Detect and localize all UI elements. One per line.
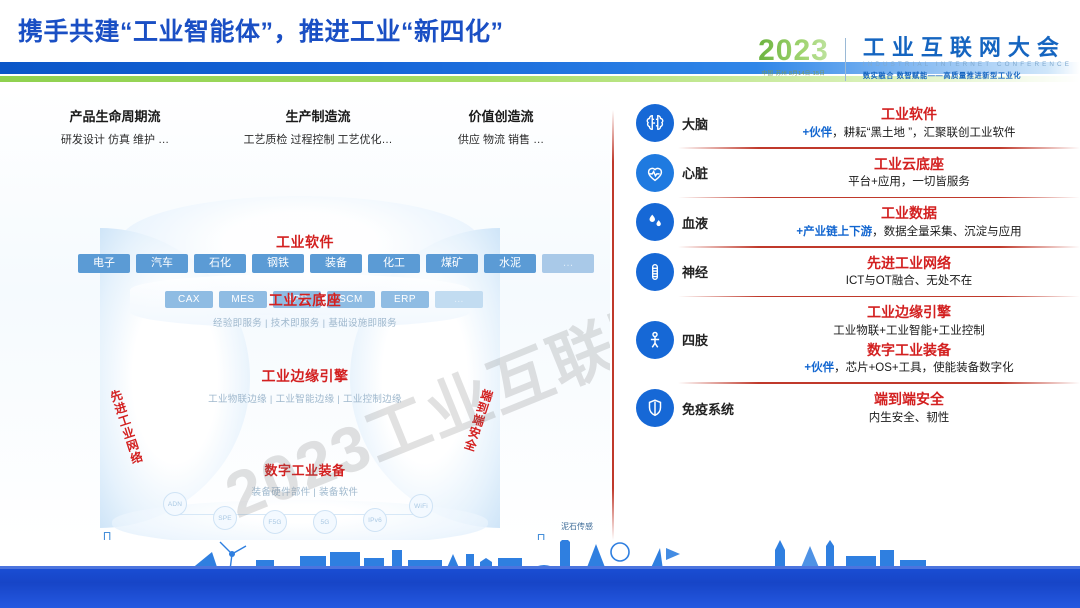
organ-body: 工业边缘引擎 工业物联+工业智能+工业控制 数字工业装备 +伙伴，芯片+OS+工… bbox=[736, 302, 1080, 377]
panel-divider bbox=[612, 110, 614, 540]
organ-name: 心脏 bbox=[682, 163, 736, 182]
organ-separator bbox=[678, 382, 1080, 384]
industry-chip[interactable]: 石化 bbox=[194, 254, 246, 273]
industry-chip[interactable]: 煤矿 bbox=[426, 254, 478, 273]
industry-chip-more[interactable]: … bbox=[542, 254, 594, 273]
industry-chip[interactable]: 水泥 bbox=[484, 254, 536, 273]
organ-row-heart[interactable]: 心脏 工业云底座 平台+应用，一切皆服务 bbox=[636, 154, 1080, 192]
footer-band bbox=[0, 566, 1080, 608]
organ-heading: 工业云底座 bbox=[738, 154, 1080, 174]
logo-year: 2023 bbox=[758, 36, 829, 66]
heart-icon bbox=[636, 154, 674, 192]
flow-column-value: 价值创造流 供应 物流 销售 … bbox=[406, 106, 596, 147]
industry-chip[interactable]: 化工 bbox=[368, 254, 420, 273]
organ-desc-highlight: +伙伴 bbox=[802, 127, 832, 139]
organ-body: 工业云底座 平台+应用，一切皆服务 bbox=[736, 154, 1080, 192]
logo-name-en: INDUSTRIAL INTERNET CONFERENCE bbox=[863, 61, 1072, 68]
organ-row-blood[interactable]: 血液 工业数据 +产业链上下游，数据全量采集、沉淀与应用 bbox=[636, 203, 1080, 241]
organ-desc-highlight: +产业链上下游 bbox=[796, 226, 872, 238]
industry-chip[interactable]: 装备 bbox=[310, 254, 362, 273]
organ-row-nerve[interactable]: 神经 先进工业网络 ICT与OT融合、无处不在 bbox=[636, 253, 1080, 291]
organ-description: +产业链上下游，数据全量采集、沉淀与应用 bbox=[738, 224, 1080, 241]
organ-description: +伙伴，耕耘“黑土地 ”，汇聚联创工业软件 bbox=[738, 125, 1080, 142]
organ-body: 工业软件 +伙伴，耕耘“黑土地 ”，汇聚联创工业软件 bbox=[736, 104, 1080, 142]
device-gas-meter: ▯ 煤气表 bbox=[516, 530, 566, 540]
organ-heading: 工业边缘引擎 bbox=[738, 302, 1080, 322]
organ-heading: 工业数据 bbox=[738, 203, 1080, 223]
organ-desc-rest: ，数据全量采集、沉淀与应用 bbox=[872, 226, 1022, 238]
gas-meter-icon: ▯ bbox=[516, 530, 566, 540]
layer-title: 工业边缘引擎 bbox=[0, 366, 610, 386]
layer-title: 数字工业装备 bbox=[0, 460, 610, 479]
blood-icon bbox=[636, 203, 674, 241]
logo-name-cn: 工业互联网大会 bbox=[863, 36, 1072, 59]
flow-title: 产品生命周期流 bbox=[10, 106, 220, 125]
organ-name: 血液 bbox=[682, 213, 736, 232]
organ-description-secondary: +伙伴，芯片+OS+工具，使能装备数字化 bbox=[738, 360, 1080, 377]
organ-body: 先进工业网络 ICT与OT融合、无处不在 bbox=[736, 253, 1080, 291]
organ-description: ICT与OT融合、无处不在 bbox=[738, 273, 1080, 290]
organ-description: 工业物联+工业智能+工业控制 bbox=[738, 323, 1080, 340]
flow-column-manufacturing: 生产制造流 工艺质检 过程控制 工艺优化… bbox=[208, 106, 428, 147]
organ-desc-rest: ，芯片+OS+工具，使能装备数字化 bbox=[834, 362, 1014, 374]
device-label: 泥石传感 bbox=[552, 522, 602, 531]
device-icon-row: ▯ 监控摄像头 ▤ 数控机床 ▣ 工业机器人 ▮ 原材料 ◎ 振动传感 ⌁ 雷达 bbox=[82, 528, 582, 540]
industry-chip[interactable]: 钢铁 bbox=[252, 254, 304, 273]
organ-desc-rest: ，耕耘“黑土地 ”，汇聚联创工业软件 bbox=[832, 127, 1015, 139]
logo-year-block: 2023 中国·苏州 8月14日-15日 bbox=[758, 36, 837, 77]
organ-name: 大脑 bbox=[682, 114, 736, 133]
logo-text-block: 工业互联网大会 INDUSTRIAL INTERNET CONFERENCE 数… bbox=[854, 36, 1072, 81]
layer-title: 工业云底座 bbox=[0, 290, 610, 310]
organ-name: 免疫系统 bbox=[682, 399, 736, 418]
immune-icon bbox=[636, 389, 674, 427]
organ-separator bbox=[678, 147, 1080, 149]
logo-slogan: 数实融合 数智赋能——高质量推进新型工业化 bbox=[863, 71, 1072, 81]
organ-separator bbox=[678, 197, 1080, 199]
flow-title: 生产制造流 bbox=[208, 106, 428, 125]
organ-desc-highlight: +伙伴 bbox=[804, 362, 834, 374]
organ-description: 平台+应用，一切皆服务 bbox=[738, 174, 1080, 191]
organ-row-limbs[interactable]: 四肢 工业边缘引擎 工业物联+工业智能+工业控制 数字工业装备 +伙伴，芯片+O… bbox=[636, 302, 1080, 377]
flow-subtitle: 研发设计 仿真 维护 … bbox=[10, 131, 220, 147]
layer-subtitle: 经验即服务 | 技术即服务 | 基础设施即服务 bbox=[0, 315, 610, 329]
flow-subtitle: 工艺质检 过程控制 工艺优化… bbox=[208, 131, 428, 147]
camera-icon: ▯ bbox=[82, 528, 132, 540]
organ-body: 端到端安全 内生安全、韧性 bbox=[736, 389, 1080, 427]
organ-row-immune[interactable]: 免疫系统 端到端安全 内生安全、韧性 bbox=[636, 389, 1080, 427]
device-mud-sensor: 泥石传感 bbox=[552, 520, 602, 531]
organ-separator bbox=[678, 246, 1080, 248]
organ-body: 工业数据 +产业链上下游，数据全量采集、沉淀与应用 bbox=[736, 203, 1080, 241]
network-node: WiFi bbox=[409, 494, 433, 518]
layer-title: 工业软件 bbox=[0, 232, 610, 252]
organ-separator bbox=[678, 296, 1080, 298]
flow-subtitle: 供应 物流 销售 … bbox=[406, 131, 596, 147]
organ-heading: 先进工业网络 bbox=[738, 253, 1080, 273]
device-camera: ▯ 监控摄像头 bbox=[82, 528, 132, 540]
organ-heading: 工业软件 bbox=[738, 104, 1080, 124]
page-title: 携手共建“工业智能体”，推进工业“新四化” bbox=[18, 12, 504, 48]
organ-name: 神经 bbox=[682, 262, 736, 281]
organ-name: 四肢 bbox=[682, 330, 736, 349]
logo-divider bbox=[845, 38, 846, 81]
organ-metaphor-list: 大脑 工业软件 +伙伴，耕耘“黑土地 ”，汇聚联创工业软件 心脏 工业云底座 平… bbox=[636, 104, 1080, 427]
brain-icon bbox=[636, 104, 674, 142]
flow-title: 价值创造流 bbox=[406, 106, 596, 125]
network-node: SPE bbox=[213, 506, 237, 530]
conference-logo: 2023 中国·苏州 8月14日-15日 工业互联网大会 INDUSTRIAL … bbox=[758, 36, 1072, 81]
industry-chip[interactable]: 汽车 bbox=[136, 254, 188, 273]
organ-row-brain[interactable]: 大脑 工业软件 +伙伴，耕耘“黑土地 ”，汇聚联创工业软件 bbox=[636, 104, 1080, 142]
flow-column-lifecycle: 产品生命周期流 研发设计 仿真 维护 … bbox=[10, 106, 220, 147]
layer-subtitle: 工业物联边缘 | 工业智能边缘 | 工业控制边缘 bbox=[0, 391, 610, 405]
organ-description: 内生安全、韧性 bbox=[738, 410, 1080, 427]
industry-chip[interactable]: 电子 bbox=[78, 254, 130, 273]
layer-industrial-software: 工业软件 bbox=[0, 232, 610, 252]
network-node: ADN bbox=[163, 492, 187, 516]
layer-industrial-cloud: 工业云底座 经验即服务 | 技术即服务 | 基础设施即服务 bbox=[0, 290, 610, 329]
limbs-icon bbox=[636, 321, 674, 359]
logo-date: 中国·苏州 8月14日-15日 bbox=[758, 69, 829, 77]
industry-chip-row: 电子 汽车 石化 钢铁 装备 化工 煤矿 水泥 … bbox=[78, 254, 594, 273]
organ-heading: 端到端安全 bbox=[738, 389, 1080, 409]
nerve-icon bbox=[636, 253, 674, 291]
footer-skyline bbox=[0, 540, 1080, 608]
layer-edge-engine: 工业边缘引擎 工业物联边缘 | 工业智能边缘 | 工业控制边缘 bbox=[0, 366, 610, 405]
architecture-diagram: 产品生命周期流 研发设计 仿真 维护 … 生产制造流 工艺质检 过程控制 工艺优… bbox=[0, 88, 610, 540]
organ-heading-secondary: 数字工业装备 bbox=[738, 340, 1080, 360]
slide-root: 携手共建“工业智能体”，推进工业“新四化” 2023 中国·苏州 8月14日-1… bbox=[0, 0, 1080, 608]
